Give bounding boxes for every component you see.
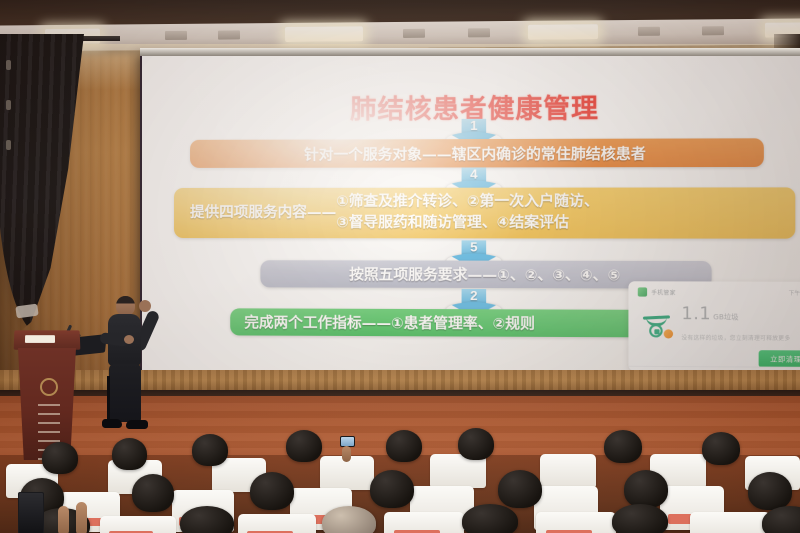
arrow-number: 5 <box>446 239 501 254</box>
audience-area <box>0 420 800 533</box>
cleaner-card-time: 下午3:46 <box>789 288 800 296</box>
slide-row-four-services: 提供四项服务内容—— ①筛查及推介转诊、②第一次入户随访、 ③督导服药和随访管理… <box>174 187 795 238</box>
foreground-raised-hand <box>58 506 69 533</box>
cleaner-card-header: 手机管家 下午3:46 <box>638 287 800 297</box>
cleaner-size-unit: GB垃圾 <box>713 312 738 322</box>
attendee-head <box>370 470 414 508</box>
cleaner-size-line: 1.1 GB垃圾 <box>681 304 800 325</box>
cleaner-size-value: 1.1 <box>681 304 711 325</box>
seat <box>100 516 176 533</box>
attendee-head <box>386 430 422 462</box>
phone-cleaner-notification-card[interactable]: 手机管家 下午3:46 1.1 GB垃圾 <box>628 281 800 372</box>
presenter-legs <box>109 364 141 422</box>
curtain-hook <box>6 60 11 70</box>
ceiling-light-panel <box>285 26 363 42</box>
screen-top-roller <box>140 48 800 56</box>
seat <box>540 454 596 488</box>
row-line-2: ③督导服药和随访管理、④结案评估 <box>336 215 569 231</box>
cleaner-card-divider <box>628 366 800 368</box>
presenter-head <box>116 296 135 316</box>
arrow-number: 4 <box>446 166 501 181</box>
seat <box>690 512 770 533</box>
lectern-nameplate <box>25 335 55 343</box>
attendee-head <box>762 506 800 533</box>
attendee-head <box>748 472 792 510</box>
cleaner-app-icon <box>638 287 647 296</box>
attendee-head <box>498 470 542 508</box>
presentation-photo-scene: 肺结核患者健康管理 1 针对一个服务对象——辖区内确诊的常住肺结核患者 4 提供… <box>0 0 800 533</box>
row-label: 提供四项服务内容—— <box>190 203 336 224</box>
cleaner-card-text-column: 1.1 GB垃圾 没有这样的垃圾，您立刻清理可释放更多 <box>681 304 800 344</box>
attendee-head <box>604 430 642 463</box>
seat <box>238 514 316 533</box>
row-text: 针对一个服务对象——辖区内确诊的常住肺结核患者 <box>304 142 646 164</box>
arrow-number: 1 <box>446 118 501 133</box>
attendee-head <box>286 430 322 462</box>
presenter-raised-fist <box>139 300 151 312</box>
attendee-head <box>250 472 294 510</box>
presenter-hand <box>124 335 134 344</box>
recycle-circle <box>649 324 663 337</box>
clean-now-button[interactable]: 立即清理 <box>759 350 800 368</box>
orange-dot-icon <box>664 329 673 338</box>
seat <box>384 512 464 533</box>
lectern-emblem <box>40 378 58 396</box>
foreground-raised-hand <box>76 502 87 533</box>
cleaner-description: 没有这样的垃圾，您立刻清理可释放更多 <box>681 335 790 342</box>
ceiling-vent <box>165 31 187 40</box>
curtain-hook <box>6 100 11 110</box>
presenter-leg-gap <box>107 376 110 420</box>
attendee-head <box>42 442 78 474</box>
ceiling-vent <box>468 28 490 37</box>
row-line-1: ①筛查及推介转诊、②第一次入户随访、 <box>336 194 599 210</box>
ceiling-vent <box>403 29 425 38</box>
presenter-speaker <box>92 296 168 432</box>
attendee-raised-hand <box>342 446 351 462</box>
ceiling-vent <box>702 26 724 35</box>
attendee-head <box>624 470 668 508</box>
ceiling-vent <box>638 27 660 36</box>
cleaner-card-body: 1.1 GB垃圾 没有这样的垃圾，您立刻清理可释放更多 <box>638 304 800 345</box>
curtain-hook <box>6 140 11 150</box>
attendee-head <box>132 474 174 512</box>
lectern-top <box>14 330 81 349</box>
seat <box>536 512 616 533</box>
attendee-head <box>458 428 494 460</box>
attendee-head <box>112 438 147 470</box>
attendee-head <box>612 504 668 533</box>
ceiling-vent <box>218 30 240 39</box>
cleaner-app-name: 手机管家 <box>651 288 676 296</box>
slide-row-service-target: 针对一个服务对象——辖区内确诊的常住肺结核患者 <box>190 138 764 168</box>
attendee-head <box>180 506 234 533</box>
attendee-head <box>462 504 518 533</box>
attendee-head <box>702 432 740 465</box>
row-text: 完成两个工作指标——①患者管理率、②规则 <box>244 311 535 333</box>
row-text: 按照五项服务要求——①、②、③、④、⑤ <box>349 263 620 285</box>
projection-screen: 肺结核患者健康管理 1 针对一个服务对象——辖区内确诊的常住肺结核患者 4 提供… <box>142 50 800 374</box>
foreground-phone <box>18 492 44 533</box>
ceiling-light-panel <box>528 24 598 40</box>
broom-recycle-icon <box>641 310 672 337</box>
attendee-head-grey-hair <box>322 506 376 533</box>
attendee-head <box>192 434 228 466</box>
row-body: ①筛查及推介转诊、②第一次入户随访、 ③督导服药和随访管理、④结案评估 <box>336 192 778 234</box>
arrow-number: 2 <box>446 288 501 303</box>
slide-content: 肺结核患者健康管理 1 针对一个服务对象——辖区内确诊的常住肺结核患者 4 提供… <box>142 50 800 374</box>
